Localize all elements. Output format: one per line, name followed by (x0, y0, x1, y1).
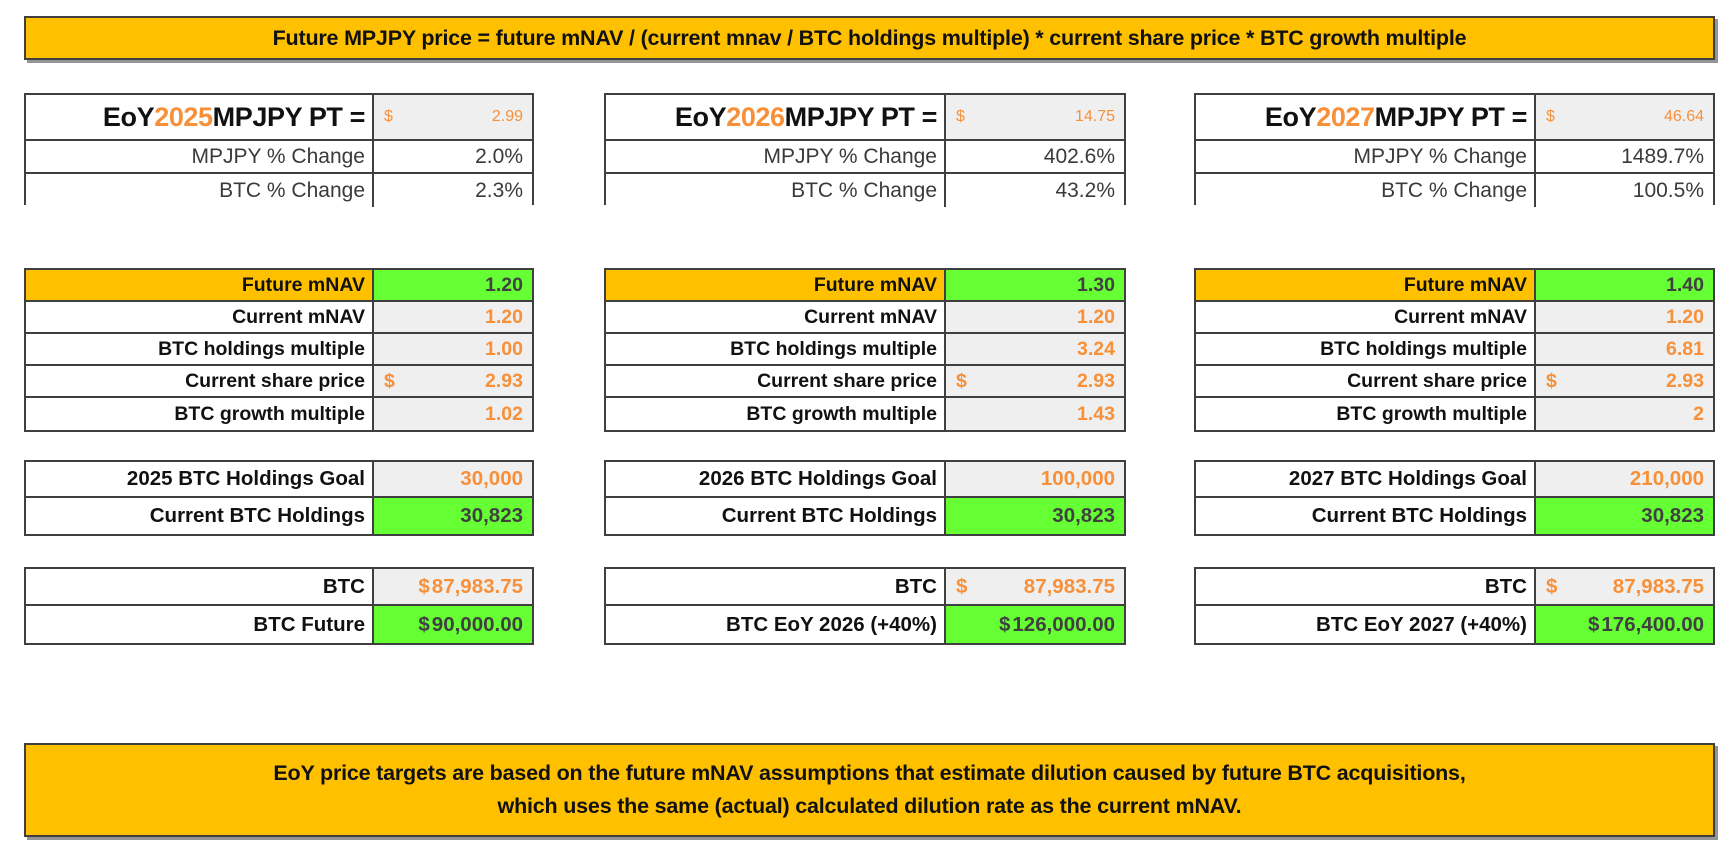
mnav-inputs-block-2026: Future mNAV 1.30 Current mNAV 1.20 BTC h… (604, 268, 1126, 432)
btc-growth-multiple-value: 1.02 (374, 398, 532, 430)
currency-symbol: $ (417, 575, 431, 599)
current-holdings-value: 30,823 (1536, 498, 1713, 534)
holdings-goal-value: 30,000 (374, 462, 532, 496)
pt-prefix: EoY (103, 102, 154, 133)
holdings-goal-label: 2025 BTC Holdings Goal (26, 462, 374, 496)
price-target-label: EoY 2026 MPJPY PT = (606, 95, 946, 139)
pt-suffix: MPJPY PT = (213, 102, 365, 133)
formula-text: Future MPJPY price = future mNAV / (curr… (273, 26, 1467, 51)
currency-symbol: $ (417, 613, 431, 637)
btc-future-value-cell: $ 176,400.00 (1536, 606, 1713, 643)
currency-symbol: $ (1545, 575, 1557, 599)
current-share-price-value-cell: $ 2.93 (946, 366, 1124, 396)
btc-price-block-2025: BTC $ 87,983.75 BTC Future $ 90,000.00 (24, 567, 534, 645)
mnav-inputs-block-2025: Future mNAV 1.20 Current mNAV 1.20 BTC h… (24, 268, 534, 432)
table-row: BTC growth multiple 2 (1196, 398, 1713, 430)
btc-spot-value-cell: $ 87,983.75 (1536, 569, 1713, 604)
current-holdings-label: Current BTC Holdings (1196, 498, 1536, 534)
btc-growth-multiple-value: 2 (1536, 398, 1713, 430)
btc-future-value-cell: $ 126,000.00 (946, 606, 1124, 643)
table-row: Current mNAV 1.20 (606, 302, 1124, 334)
table-row: BTC holdings multiple 3.24 (606, 334, 1124, 366)
table-row: Current BTC Holdings 30,823 (1196, 498, 1713, 534)
disclaimer-banner: EoY price targets are based on the futur… (24, 743, 1715, 837)
holdings-goal-label: 2027 BTC Holdings Goal (1196, 462, 1536, 496)
mpjpy-change-value: 402.6% (946, 141, 1124, 172)
current-share-price-label: Current share price (606, 366, 946, 396)
table-row: BTC holdings multiple 6.81 (1196, 334, 1713, 366)
mpjpy-change-value: 2.0% (374, 141, 532, 172)
btc-change-value: 100.5% (1536, 174, 1713, 207)
currency-symbol: $ (955, 108, 965, 126)
table-row: Current BTC Holdings 30,823 (606, 498, 1124, 534)
btc-holdings-multiple-value: 6.81 (1536, 334, 1713, 364)
pt-year: 2025 (154, 102, 212, 133)
table-row: Future mNAV 1.40 (1196, 270, 1713, 302)
table-row: BTC holdings multiple 1.00 (26, 334, 532, 366)
price-target-value-cell: $ 46.64 (1536, 95, 1713, 139)
current-share-price-label: Current share price (26, 366, 374, 396)
table-row: BTC $ 87,983.75 (606, 569, 1124, 606)
btc-spot-value: 87,983.75 (1613, 575, 1704, 599)
pt-suffix: MPJPY PT = (785, 102, 937, 133)
table-row: Current share price $ 2.93 (1196, 366, 1713, 398)
current-share-price-value: 2.93 (485, 370, 523, 393)
table-row: Current BTC Holdings 30,823 (26, 498, 532, 534)
btc-future-label: BTC EoY 2026 (+40%) (606, 606, 946, 643)
btc-holdings-multiple-value: 3.24 (946, 334, 1124, 364)
currency-symbol: $ (955, 575, 967, 599)
btc-price-block-2026: BTC $ 87,983.75 BTC EoY 2026 (+40%) $ 12… (604, 567, 1126, 645)
btc-holdings-multiple-label: BTC holdings multiple (1196, 334, 1536, 364)
table-row: Future mNAV 1.20 (26, 270, 532, 302)
currency-symbol: $ (383, 370, 395, 393)
price-target-block-2025: EoY 2025 MPJPY PT = $ 2.99 MPJPY % Chang… (24, 93, 534, 205)
btc-change-label: BTC % Change (26, 174, 374, 207)
current-mnav-value: 1.20 (1536, 302, 1713, 332)
btc-holdings-block-2027: 2027 BTC Holdings Goal 210,000 Current B… (1194, 460, 1715, 536)
table-row: BTC % Change 100.5% (1196, 174, 1713, 207)
table-row: 2025 BTC Holdings Goal 30,000 (26, 462, 532, 498)
btc-future-label: BTC EoY 2027 (+40%) (1196, 606, 1536, 643)
disclaimer-line-1: EoY price targets are based on the futur… (273, 757, 1465, 790)
future-mnav-label: Future mNAV (26, 270, 374, 300)
current-mnav-value: 1.20 (374, 302, 532, 332)
mpjpy-change-label: MPJPY % Change (606, 141, 946, 172)
btc-holdings-multiple-label: BTC holdings multiple (606, 334, 946, 364)
btc-price-block-2027: BTC $ 87,983.75 BTC EoY 2027 (+40%) $ 17… (1194, 567, 1715, 645)
formula-banner: Future MPJPY price = future mNAV / (curr… (24, 16, 1715, 60)
btc-spot-value-cell: $ 87,983.75 (374, 569, 532, 604)
table-row: Current share price $ 2.93 (606, 366, 1124, 398)
table-row: Current mNAV 1.20 (1196, 302, 1713, 334)
table-row: Future mNAV 1.30 (606, 270, 1124, 302)
price-target-value: 46.64 (1664, 108, 1704, 126)
btc-growth-multiple-label: BTC growth multiple (606, 398, 946, 430)
btc-holdings-multiple-label: BTC holdings multiple (26, 334, 374, 364)
mpjpy-change-value: 1489.7% (1536, 141, 1713, 172)
current-holdings-value: 30,823 (946, 498, 1124, 534)
table-row: BTC $ 87,983.75 (1196, 569, 1713, 606)
future-mnav-value[interactable]: 1.20 (374, 270, 532, 300)
table-row: Current mNAV 1.20 (26, 302, 532, 334)
future-mnav-label: Future mNAV (1196, 270, 1536, 300)
current-holdings-value: 30,823 (374, 498, 532, 534)
price-target-value: 2.99 (492, 108, 523, 126)
pt-prefix: EoY (1265, 102, 1316, 133)
table-row: BTC growth multiple 1.43 (606, 398, 1124, 430)
current-share-price-value-cell: $ 2.93 (374, 366, 532, 396)
price-target-header-row: EoY 2025 MPJPY PT = $ 2.99 (26, 95, 532, 141)
btc-spot-label: BTC (606, 569, 946, 604)
pt-suffix: MPJPY PT = (1375, 102, 1527, 133)
current-holdings-label: Current BTC Holdings (606, 498, 946, 534)
mnav-inputs-block-2027: Future mNAV 1.40 Current mNAV 1.20 BTC h… (1194, 268, 1715, 432)
btc-change-value: 43.2% (946, 174, 1124, 207)
pt-year: 2027 (1316, 102, 1374, 133)
price-target-block-2026: EoY 2026 MPJPY PT = $ 14.75 MPJPY % Chan… (604, 93, 1126, 205)
table-row: 2027 BTC Holdings Goal 210,000 (1196, 462, 1713, 498)
current-mnav-label: Current mNAV (1196, 302, 1536, 332)
disclaimer-line-2: which uses the same (actual) calculated … (498, 790, 1242, 823)
current-share-price-label: Current share price (1196, 366, 1536, 396)
price-target-label: EoY 2025 MPJPY PT = (26, 95, 374, 139)
currency-symbol: $ (383, 108, 393, 126)
spreadsheet-canvas: Future MPJPY price = future mNAV / (curr… (0, 0, 1734, 854)
current-share-price-value-cell: $ 2.93 (1536, 366, 1713, 396)
currency-symbol: $ (1545, 108, 1555, 126)
table-row: 2026 BTC Holdings Goal 100,000 (606, 462, 1124, 498)
table-row: BTC EoY 2026 (+40%) $ 126,000.00 (606, 606, 1124, 643)
future-mnav-label: Future mNAV (606, 270, 946, 300)
btc-growth-multiple-value: 1.43 (946, 398, 1124, 430)
btc-change-label: BTC % Change (1196, 174, 1536, 207)
table-row: Current share price $ 2.93 (26, 366, 532, 398)
btc-spot-value: 87,983.75 (432, 575, 523, 599)
btc-future-value: 176,400.00 (1601, 613, 1704, 637)
table-row: BTC % Change 43.2% (606, 174, 1124, 207)
holdings-goal-value: 100,000 (946, 462, 1124, 496)
price-target-value-cell: $ 14.75 (946, 95, 1124, 139)
btc-change-label: BTC % Change (606, 174, 946, 207)
table-row: BTC % Change 2.3% (26, 174, 532, 207)
holdings-goal-label: 2026 BTC Holdings Goal (606, 462, 946, 496)
current-holdings-label: Current BTC Holdings (26, 498, 374, 534)
btc-holdings-block-2025: 2025 BTC Holdings Goal 30,000 Current BT… (24, 460, 534, 536)
price-target-block-2027: EoY 2027 MPJPY PT = $ 46.64 MPJPY % Chan… (1194, 93, 1715, 205)
current-mnav-value: 1.20 (946, 302, 1124, 332)
btc-change-value: 2.3% (374, 174, 532, 207)
price-target-value-cell: $ 2.99 (374, 95, 532, 139)
price-target-header-row: EoY 2026 MPJPY PT = $ 14.75 (606, 95, 1124, 141)
pt-year: 2026 (726, 102, 784, 133)
future-mnav-value[interactable]: 1.30 (946, 270, 1124, 300)
current-mnav-label: Current mNAV (606, 302, 946, 332)
price-target-label: EoY 2027 MPJPY PT = (1196, 95, 1536, 139)
btc-growth-multiple-label: BTC growth multiple (1196, 398, 1536, 430)
current-share-price-value: 2.93 (1666, 370, 1704, 393)
btc-spot-value: 87,983.75 (1024, 575, 1115, 599)
price-target-header-row: EoY 2027 MPJPY PT = $ 46.64 (1196, 95, 1713, 141)
table-row: BTC EoY 2027 (+40%) $ 176,400.00 (1196, 606, 1713, 643)
table-row: MPJPY % Change 2.0% (26, 141, 532, 174)
mpjpy-change-label: MPJPY % Change (1196, 141, 1536, 172)
table-row: BTC $ 87,983.75 (26, 569, 532, 606)
price-target-value: 14.75 (1075, 108, 1115, 126)
btc-spot-value-cell: $ 87,983.75 (946, 569, 1124, 604)
pt-prefix: EoY (675, 102, 726, 133)
btc-future-label: BTC Future (26, 606, 374, 643)
future-mnav-value[interactable]: 1.40 (1536, 270, 1713, 300)
btc-spot-label: BTC (26, 569, 374, 604)
table-row: BTC growth multiple 1.02 (26, 398, 532, 430)
current-share-price-value: 2.93 (1077, 370, 1115, 393)
table-row: MPJPY % Change 402.6% (606, 141, 1124, 174)
currency-symbol: $ (1587, 613, 1601, 637)
mpjpy-change-label: MPJPY % Change (26, 141, 374, 172)
currency-symbol: $ (998, 613, 1012, 637)
currency-symbol: $ (955, 370, 967, 393)
btc-future-value: 90,000.00 (432, 613, 523, 637)
btc-holdings-multiple-value: 1.00 (374, 334, 532, 364)
table-row: MPJPY % Change 1489.7% (1196, 141, 1713, 174)
btc-holdings-block-2026: 2026 BTC Holdings Goal 100,000 Current B… (604, 460, 1126, 536)
holdings-goal-value: 210,000 (1536, 462, 1713, 496)
btc-spot-label: BTC (1196, 569, 1536, 604)
table-row: BTC Future $ 90,000.00 (26, 606, 532, 643)
currency-symbol: $ (1545, 370, 1557, 393)
btc-future-value-cell: $ 90,000.00 (374, 606, 532, 643)
btc-future-value: 126,000.00 (1012, 613, 1115, 637)
btc-growth-multiple-label: BTC growth multiple (26, 398, 374, 430)
current-mnav-label: Current mNAV (26, 302, 374, 332)
